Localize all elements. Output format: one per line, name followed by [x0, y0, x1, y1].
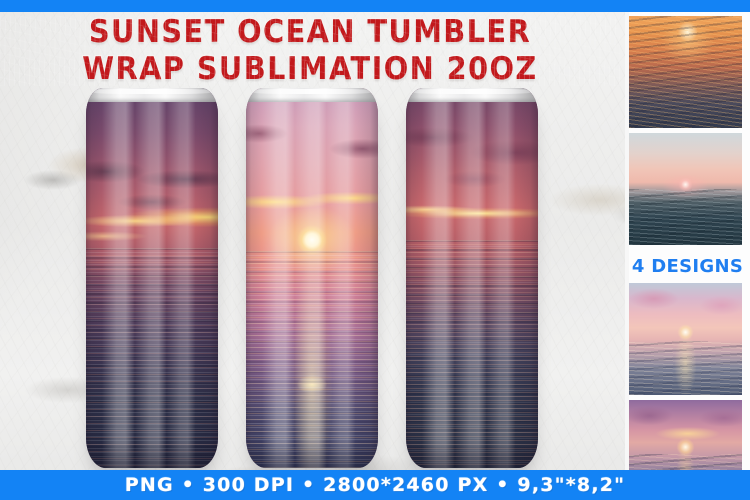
tumbler-right-artwork — [406, 88, 538, 468]
tumbler-center — [246, 88, 378, 468]
tumbler-right-base-shade — [406, 442, 538, 468]
tumbler-left-body — [86, 88, 218, 468]
file-spec-text: PNG • 300 DPI • 2800*2460 PX • 9,3"*8,2" — [125, 474, 626, 496]
tumbler-left-artwork — [86, 88, 218, 468]
designs-count-label: 4 DESIGNS — [629, 250, 746, 283]
tumbler-center-body — [246, 88, 378, 468]
bottom-spec-bar: PNG • 300 DPI • 2800*2460 PX • 9,3"*8,2" — [0, 470, 750, 500]
tumbler-center-base-shade — [246, 442, 378, 468]
product-mockup-canvas: SUNSET OCEAN TUMBLER WRAP SUBLIMATION 20… — [0, 0, 750, 500]
tumbler-right-body — [406, 88, 538, 468]
tumbler-left — [86, 88, 218, 468]
design-thumbnail-2[interactable] — [629, 133, 742, 245]
tumbler-left-base-shade — [86, 442, 218, 468]
tumbler-center-artwork — [246, 88, 378, 468]
design-preview-panel: 4 DESIGNS — [625, 12, 750, 470]
tumbler-right — [406, 88, 538, 468]
page-title: SUNSET OCEAN TUMBLER WRAP SUBLIMATION 20… — [0, 16, 620, 86]
thumbnail-list: 4 DESIGNS — [629, 16, 746, 500]
title-line-2: WRAP SUBLIMATION 20OZ — [22, 53, 599, 86]
tumbler-center-rim-lip — [249, 89, 375, 94]
tumbler-right-rim-lip — [409, 89, 535, 94]
top-accent-bar — [0, 0, 750, 12]
tumbler-left-rim-lip — [89, 89, 215, 94]
design-thumbnail-1[interactable] — [629, 16, 742, 128]
design-thumbnail-3[interactable] — [629, 283, 742, 395]
title-line-1: SUNSET OCEAN TUMBLER — [22, 16, 599, 49]
